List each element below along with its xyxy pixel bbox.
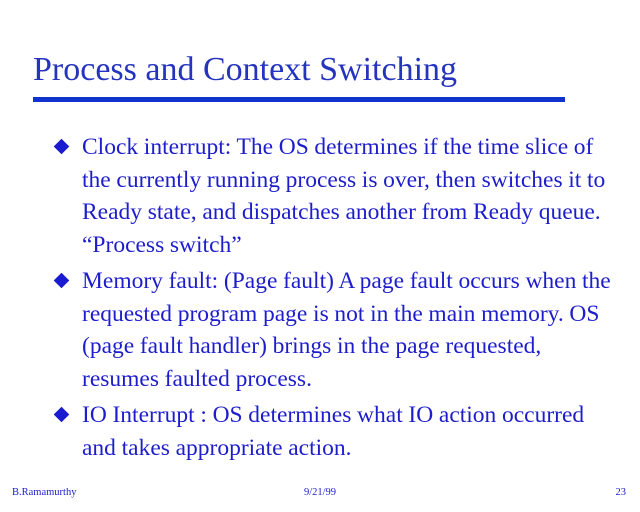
diamond-bullet-icon <box>54 273 70 289</box>
bullet-list: Clock interrupt: The OS determines if th… <box>56 131 616 468</box>
footer-date: 9/21/99 <box>0 486 640 500</box>
slide-canvas: Process and Context Switching Clock inte… <box>0 0 640 512</box>
title-underline-rule <box>33 97 565 102</box>
slide-footer: B.Ramamurthy 9/21/99 23 <box>0 484 640 508</box>
slide-title-block: Process and Context Switching <box>33 50 607 90</box>
list-item-label: Memory fault: (Page fault) A page fault … <box>82 265 616 395</box>
list-item-label: IO Interrupt : OS determines what IO act… <box>82 399 616 464</box>
list-item-label: Clock interrupt: The OS determines if th… <box>82 131 616 261</box>
list-item: Memory fault: (Page fault) A page fault … <box>56 265 616 395</box>
footer-page-number: 23 <box>616 486 627 500</box>
diamond-bullet-icon <box>54 407 70 423</box>
page-title: Process and Context Switching <box>33 50 607 90</box>
list-item: IO Interrupt : OS determines what IO act… <box>56 399 616 464</box>
list-item: Clock interrupt: The OS determines if th… <box>56 131 616 261</box>
diamond-bullet-icon <box>54 139 70 155</box>
